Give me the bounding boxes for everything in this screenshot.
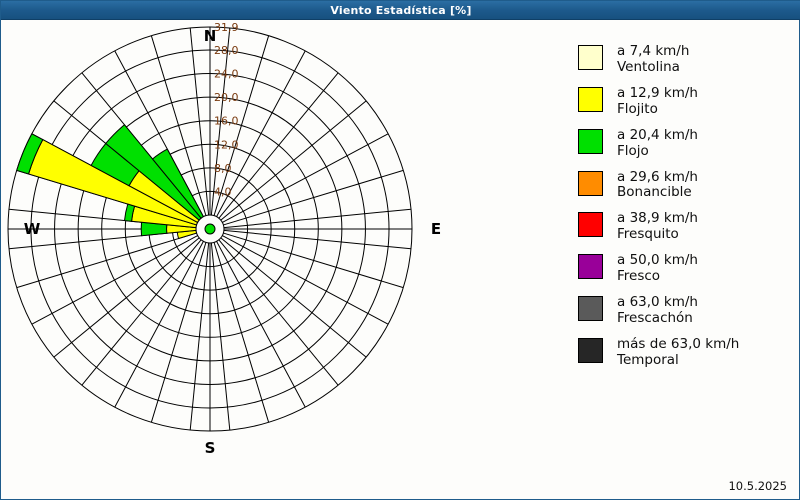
window-title-bar: Viento Estadística [%]: [1, 1, 800, 20]
legend-name-frescachon: Frescachón: [617, 311, 698, 327]
legend-item[interactable]: a 63,0 km/h Frescachón: [578, 295, 793, 327]
wind-rose-window: Viento Estadística [%] 4,08,012,016,020,…: [0, 0, 800, 500]
legend-swatch-temporal: [578, 338, 603, 363]
legend-swatch-flojo: [578, 129, 603, 154]
legend-speed-frescachon: a 63,0 km/h: [617, 295, 698, 311]
radial-tick-label: 12,0: [214, 138, 239, 151]
page-title: Viento Estadística [%]: [330, 4, 471, 17]
radial-tick-label: 16,0: [214, 115, 239, 128]
content-area: 4,08,012,016,020,024,028,031,9 N S E W a…: [2, 20, 799, 499]
legend-speed-fresco: a 50,0 km/h: [617, 253, 698, 269]
legend-item[interactable]: más de 63,0 km/h Temporal: [578, 337, 793, 369]
legend-swatch-fresco: [578, 254, 603, 279]
radial-tick-label: 31,9: [214, 21, 239, 34]
legend-speed-temporal: más de 63,0 km/h: [617, 337, 739, 353]
legend-speed-bonancible: a 29,6 km/h: [617, 170, 698, 186]
compass-label-north: N: [204, 27, 217, 45]
legend-speed-flojito: a 12,9 km/h: [617, 86, 698, 102]
legend-swatch-fresquito: [578, 212, 603, 237]
radial-tick-label: 24,0: [214, 68, 239, 81]
legend-swatch-ventolina: [578, 45, 603, 70]
legend-name-temporal: Temporal: [617, 353, 739, 369]
wind-rose-chart: 4,08,012,016,020,024,028,031,9 N S E W: [2, 20, 562, 480]
legend-item[interactable]: a 12,9 km/h Flojito: [578, 86, 793, 118]
polar-center-hub: [196, 215, 224, 243]
compass-label-south: S: [205, 439, 216, 457]
compass-label-east: E: [431, 220, 441, 238]
legend-swatch-bonancible: [578, 171, 603, 196]
wind-rose-petals: [17, 125, 204, 239]
radial-tick-label: 4,0: [214, 185, 232, 198]
legend-speed-ventolina: a 7,4 km/h: [617, 44, 689, 60]
legend-item[interactable]: a 29,6 km/h Bonancible: [578, 170, 793, 202]
legend-speed-fresquito: a 38,9 km/h: [617, 211, 698, 227]
radial-tick-label: 8,0: [214, 162, 232, 175]
date-stamp: 10.5.2025: [728, 479, 787, 493]
radial-tick-label: 28,0: [214, 44, 239, 57]
compass-label-west: W: [24, 220, 41, 238]
legend-swatch-frescachon: [578, 296, 603, 321]
legend-item[interactable]: a 20,4 km/h Flojo: [578, 128, 793, 160]
legend: a 7,4 km/h Ventolina a 12,9 km/h Flojito…: [578, 44, 793, 379]
radial-tick-label: 20,0: [214, 91, 239, 104]
legend-name-bonancible: Bonancible: [617, 185, 698, 201]
legend-item[interactable]: a 50,0 km/h Fresco: [578, 253, 793, 285]
legend-name-ventolina: Ventolina: [617, 60, 689, 76]
legend-item[interactable]: a 7,4 km/h Ventolina: [578, 44, 793, 76]
legend-swatch-flojito: [578, 87, 603, 112]
radial-axis-labels: 4,08,012,016,020,024,028,031,9: [214, 21, 239, 198]
legend-name-flojo: Flojo: [617, 144, 698, 160]
legend-name-fresco: Fresco: [617, 269, 698, 285]
legend-name-flojito: Flojito: [617, 102, 698, 118]
legend-name-fresquito: Fresquito: [617, 227, 698, 243]
legend-item[interactable]: a 38,9 km/h Fresquito: [578, 211, 793, 243]
legend-speed-flojo: a 20,4 km/h: [617, 128, 698, 144]
